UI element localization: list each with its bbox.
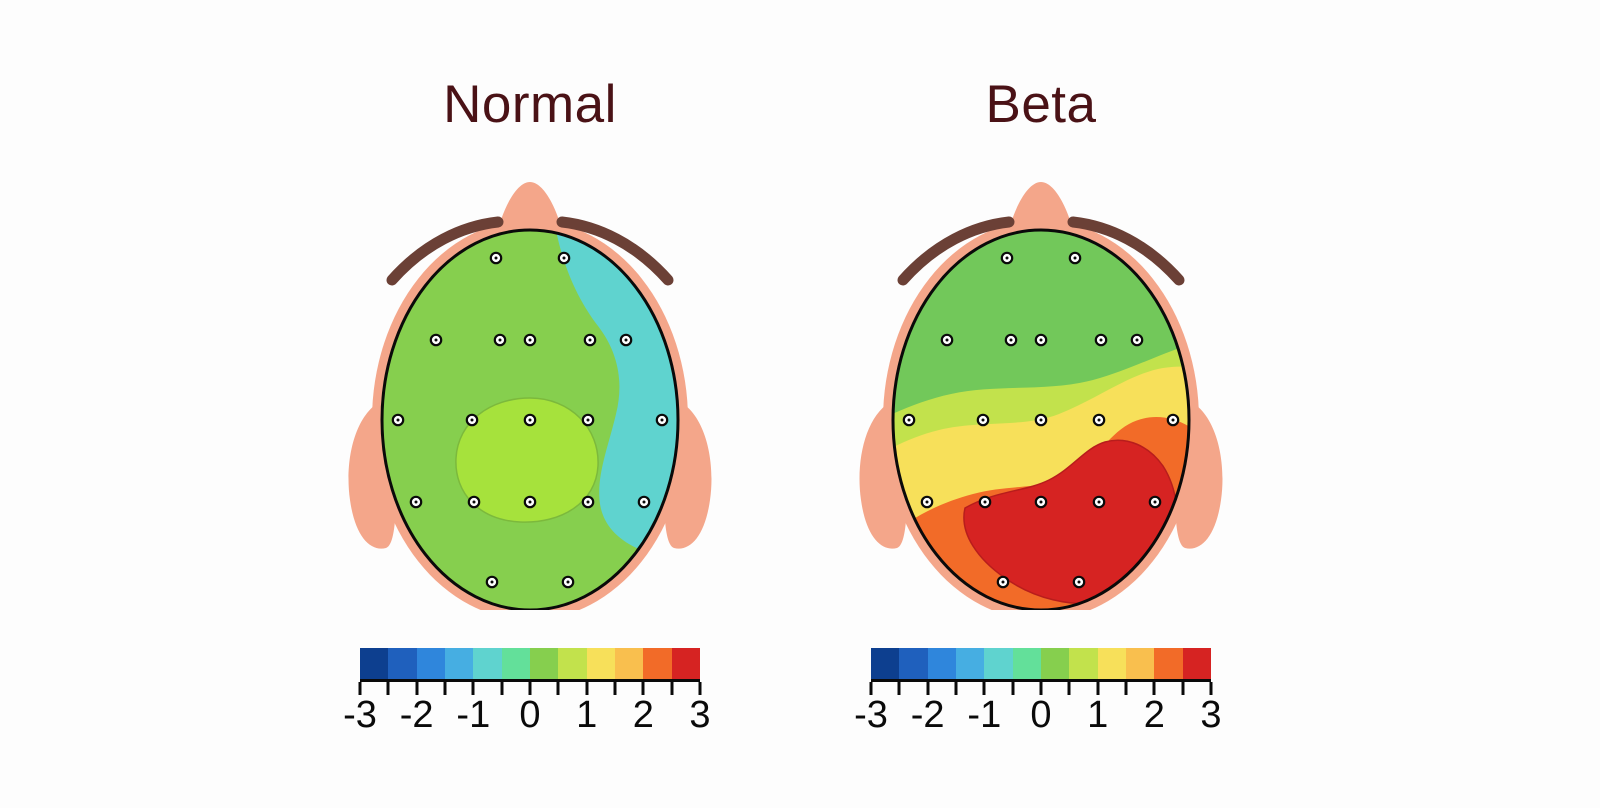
electrode-marker-core (1098, 419, 1101, 422)
electrode-marker-core (1040, 501, 1043, 504)
colorbar-band (928, 648, 956, 679)
topomap-beta-svg (851, 170, 1231, 610)
topomap-normal-svg (340, 170, 720, 610)
colorbar-tick-label: 3 (1200, 696, 1221, 736)
electrode-marker-core (1100, 339, 1103, 342)
colorbar-band (871, 648, 899, 679)
colorbar-tick-label: 3 (689, 696, 710, 736)
colorbar-tick (614, 682, 617, 695)
electrode-marker-core (1040, 339, 1043, 342)
electrode-marker-core (1074, 257, 1077, 260)
colorbar-band (615, 648, 643, 679)
colorbar-tick-label: 2 (1144, 696, 1165, 736)
colorbar-band (1013, 648, 1041, 679)
topomap-normal-field (340, 170, 720, 610)
colorbar-tick (1068, 682, 1071, 695)
electrode-marker-core (473, 501, 476, 504)
electrode-marker-core (984, 501, 987, 504)
page-title-beta: Beta (851, 78, 1231, 131)
colorbar-band (417, 648, 445, 679)
colorbar-tick (387, 682, 390, 695)
panel-normal: Normal (340, 0, 720, 808)
electrode-marker-core (1172, 419, 1175, 422)
electrode-marker-core (435, 339, 438, 342)
electrode-marker-core (563, 257, 566, 260)
colorbar-band (899, 648, 927, 679)
electrode-marker-core (1040, 419, 1043, 422)
colorbar-band (1041, 648, 1069, 679)
colorbar-tick (898, 682, 901, 695)
electrode-marker-core (661, 419, 664, 422)
colorbar-tick-label: 0 (519, 696, 540, 736)
colorbar-band (558, 648, 586, 679)
colorbar-band (984, 648, 1012, 679)
electrode-marker-core (491, 581, 494, 584)
electrode-marker-core (499, 339, 502, 342)
colorbar-tick (444, 682, 447, 695)
colorbar-tick-label: -3 (343, 696, 377, 736)
colorbar-tick-label: -3 (854, 696, 888, 736)
colorbar-band (473, 648, 501, 679)
figure-canvas: Normal (0, 0, 1600, 808)
colorbar-tick (1125, 682, 1128, 695)
colorbar-tick (955, 682, 958, 695)
electrode-marker-core (1098, 501, 1101, 504)
colorbar-tick-label: 1 (576, 696, 597, 736)
electrode-marker-core (471, 419, 474, 422)
colorbar-tick (1011, 682, 1014, 695)
colorbar-tick-label: -1 (967, 696, 1001, 736)
colorbar-tick (670, 682, 673, 695)
colorbar-beta: -3-2-10123 (871, 648, 1211, 740)
electrode-marker-core (926, 501, 929, 504)
electrode-marker-core (982, 419, 985, 422)
electrode-marker-core (946, 339, 949, 342)
topomap-normal (340, 170, 720, 610)
colorbar-band (1183, 648, 1211, 679)
colorbar-tick-label: -1 (456, 696, 490, 736)
colorbar-tick-label: 1 (1087, 696, 1108, 736)
panel-beta: Beta (851, 0, 1231, 808)
electrode-marker-core (495, 257, 498, 260)
colorbar-band (388, 648, 416, 679)
electrode-marker-core (529, 419, 532, 422)
colorbar-band (502, 648, 530, 679)
colorbar-tick (1181, 682, 1184, 695)
colorbar-tick (500, 682, 503, 695)
electrode-marker-core (625, 339, 628, 342)
colorbar-band (1126, 648, 1154, 679)
colorbar-normal-gradient (360, 648, 700, 682)
colorbar-band (956, 648, 984, 679)
electrode-marker-core (397, 419, 400, 422)
electrode-marker-core (643, 501, 646, 504)
electrode-marker-core (587, 419, 590, 422)
colorbar-band (587, 648, 615, 679)
colorbar-beta-gradient (871, 648, 1211, 682)
electrode-marker-core (567, 581, 570, 584)
electrode-marker-core (415, 501, 418, 504)
electrode-marker-core (587, 501, 590, 504)
topomap-beta-field (851, 170, 1231, 610)
colorbar-tick-label: -2 (911, 696, 945, 736)
colorbar-tick (557, 682, 560, 695)
electrode-marker-core (1136, 339, 1139, 342)
colorbar-band (672, 648, 700, 679)
electrode-marker-core (1002, 581, 1005, 584)
colorbar-band (445, 648, 473, 679)
electrode-marker-core (908, 419, 911, 422)
colorbar-beta-labels: -3-2-10123 (871, 696, 1211, 740)
colorbar-normal: -3-2-10123 (360, 648, 700, 740)
electrode-marker-core (589, 339, 592, 342)
colorbar-band (1069, 648, 1097, 679)
colorbar-band (1098, 648, 1126, 679)
electrode-marker-core (529, 339, 532, 342)
colorbar-band (360, 648, 388, 679)
colorbar-band (530, 648, 558, 679)
page-title-normal: Normal (340, 78, 720, 131)
colorbar-normal-labels: -3-2-10123 (360, 696, 700, 740)
electrode-marker-core (1006, 257, 1009, 260)
electrode-marker-core (1078, 581, 1081, 584)
electrode-marker-core (529, 501, 532, 504)
colorbar-tick-label: 0 (1030, 696, 1051, 736)
colorbar-tick-label: -2 (400, 696, 434, 736)
electrode-marker-core (1010, 339, 1013, 342)
topomap-beta (851, 170, 1231, 610)
colorbar-band (643, 648, 671, 679)
electrode-marker-core (1154, 501, 1157, 504)
colorbar-tick-label: 2 (633, 696, 654, 736)
colorbar-band (1154, 648, 1182, 679)
